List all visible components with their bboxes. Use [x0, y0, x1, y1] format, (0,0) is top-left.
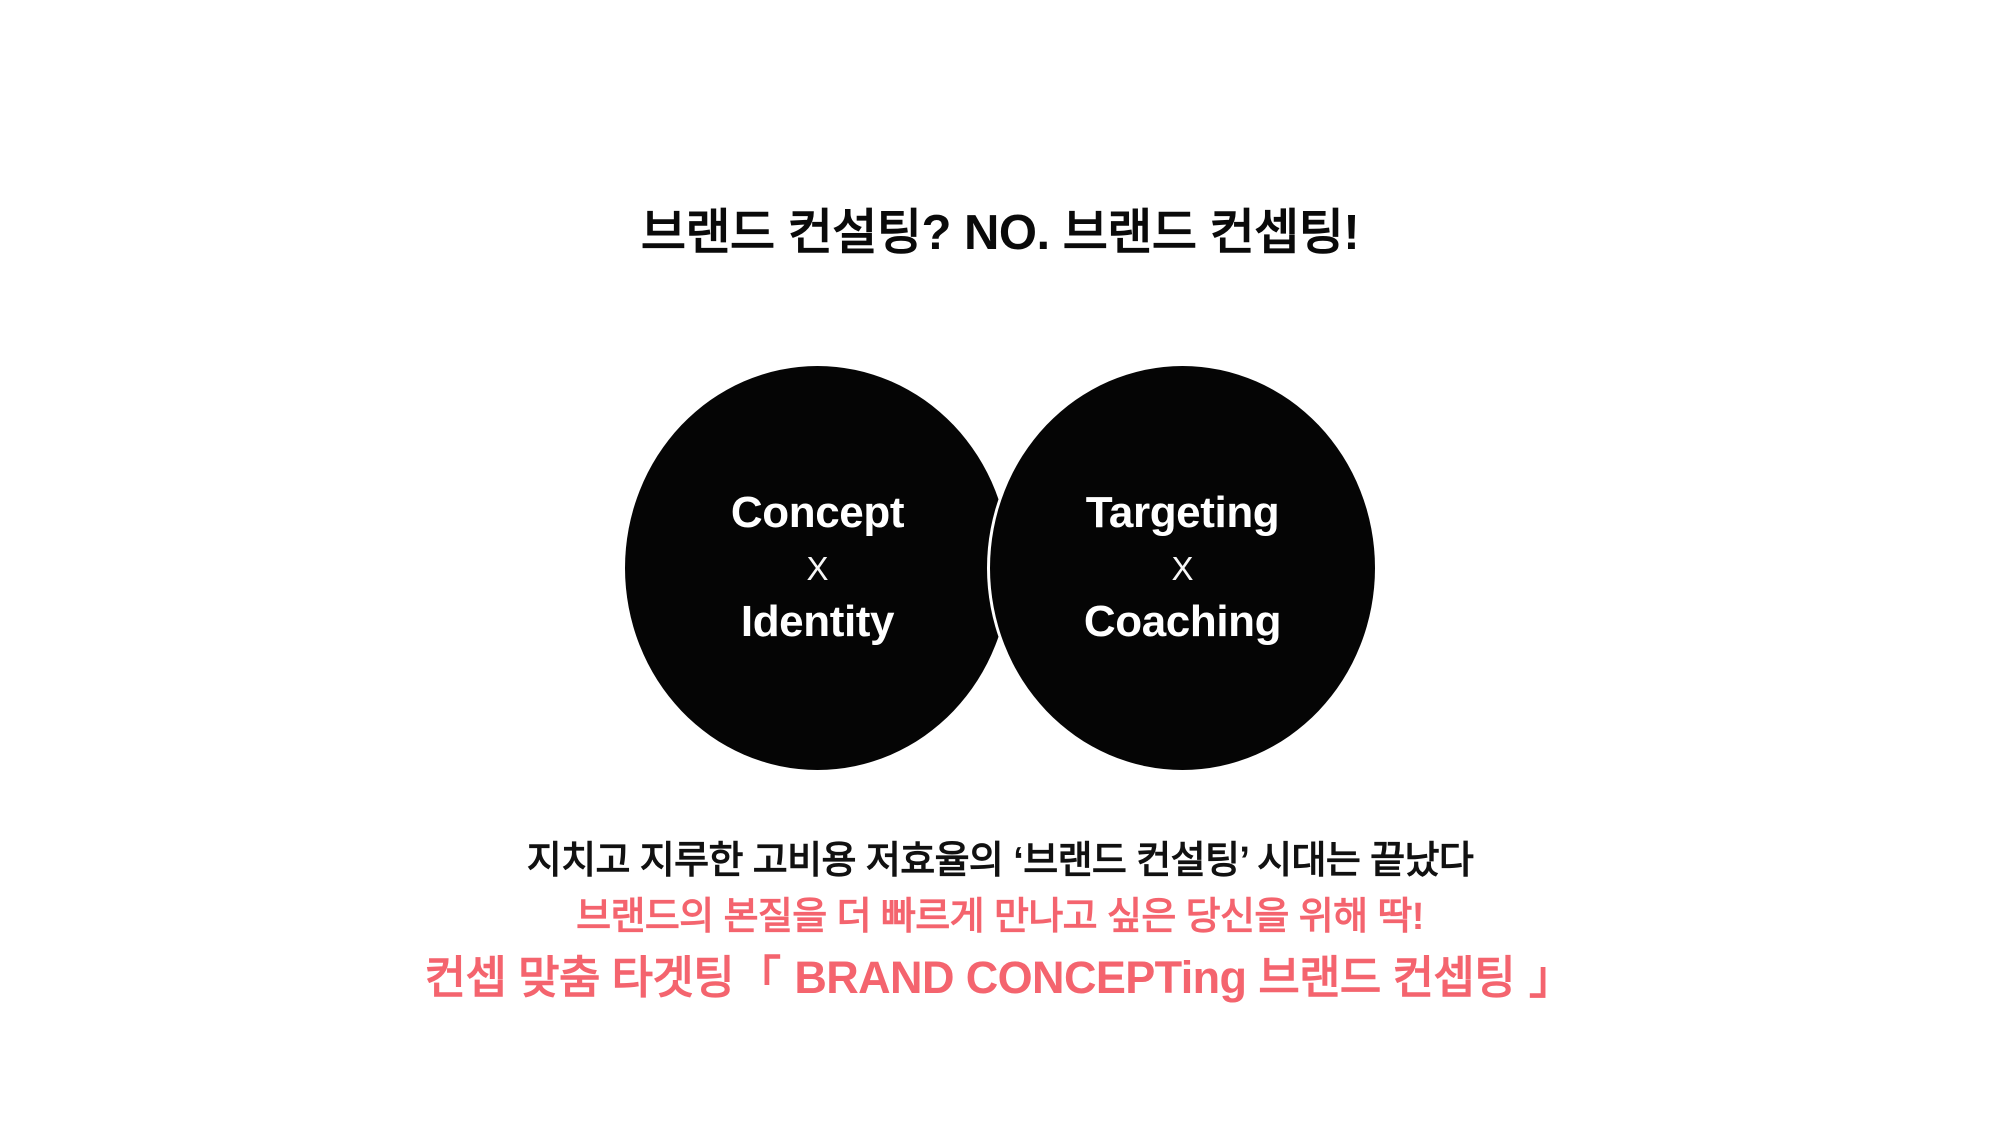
venn-left-line-1: Concept: [731, 490, 904, 537]
bracket-close: 」: [1527, 952, 1575, 1003]
venn-left-line-2: Identity: [741, 599, 894, 646]
cross-multiply-icon: X: [806, 552, 828, 585]
bottom-copy-block: 지치고 지루한 고비용 저효율의 ‘브랜드 컨설팅’ 시대는 끝났다 브랜드의 …: [0, 836, 2000, 1009]
venn-right-line-1: Targeting: [1086, 490, 1280, 537]
venn-diagram: Concept X Identity Targeting X Coaching: [0, 366, 2000, 772]
page-title: 브랜드 컨설팅? NO. 브랜드 컨셉팅!: [0, 205, 2000, 262]
venn-circle-concept-identity: Concept X Identity: [625, 366, 1010, 770]
venn-circle-targeting-coaching: Targeting X Coaching: [990, 366, 1375, 770]
copy-line-primary: 지치고 지루한 고비용 저효율의 ‘브랜드 컨설팅’ 시대는 끝났다: [0, 836, 2000, 886]
brand-name-emphasis: BRAND CONCEPTing 브랜드 컨셉팅: [782, 952, 1526, 1003]
slide-canvas: 브랜드 컨설팅? NO. 브랜드 컨셉팅! Concept X Identity…: [0, 0, 2000, 1125]
copy-line-brand-prefix: 컨셉 맞춤 타겟팅: [425, 952, 734, 1003]
copy-line-brand: 컨셉 맞춤 타겟팅「 BRAND CONCEPTing 브랜드 컨셉팅 」: [0, 948, 2000, 1008]
cross-multiply-icon: X: [1171, 552, 1193, 585]
copy-line-accent: 브랜드의 본질을 더 빠르게 만나고 싶은 당신을 위해 딱!: [0, 892, 2000, 942]
venn-right-line-2: Coaching: [1084, 599, 1281, 646]
bracket-open: 「: [734, 952, 782, 1003]
